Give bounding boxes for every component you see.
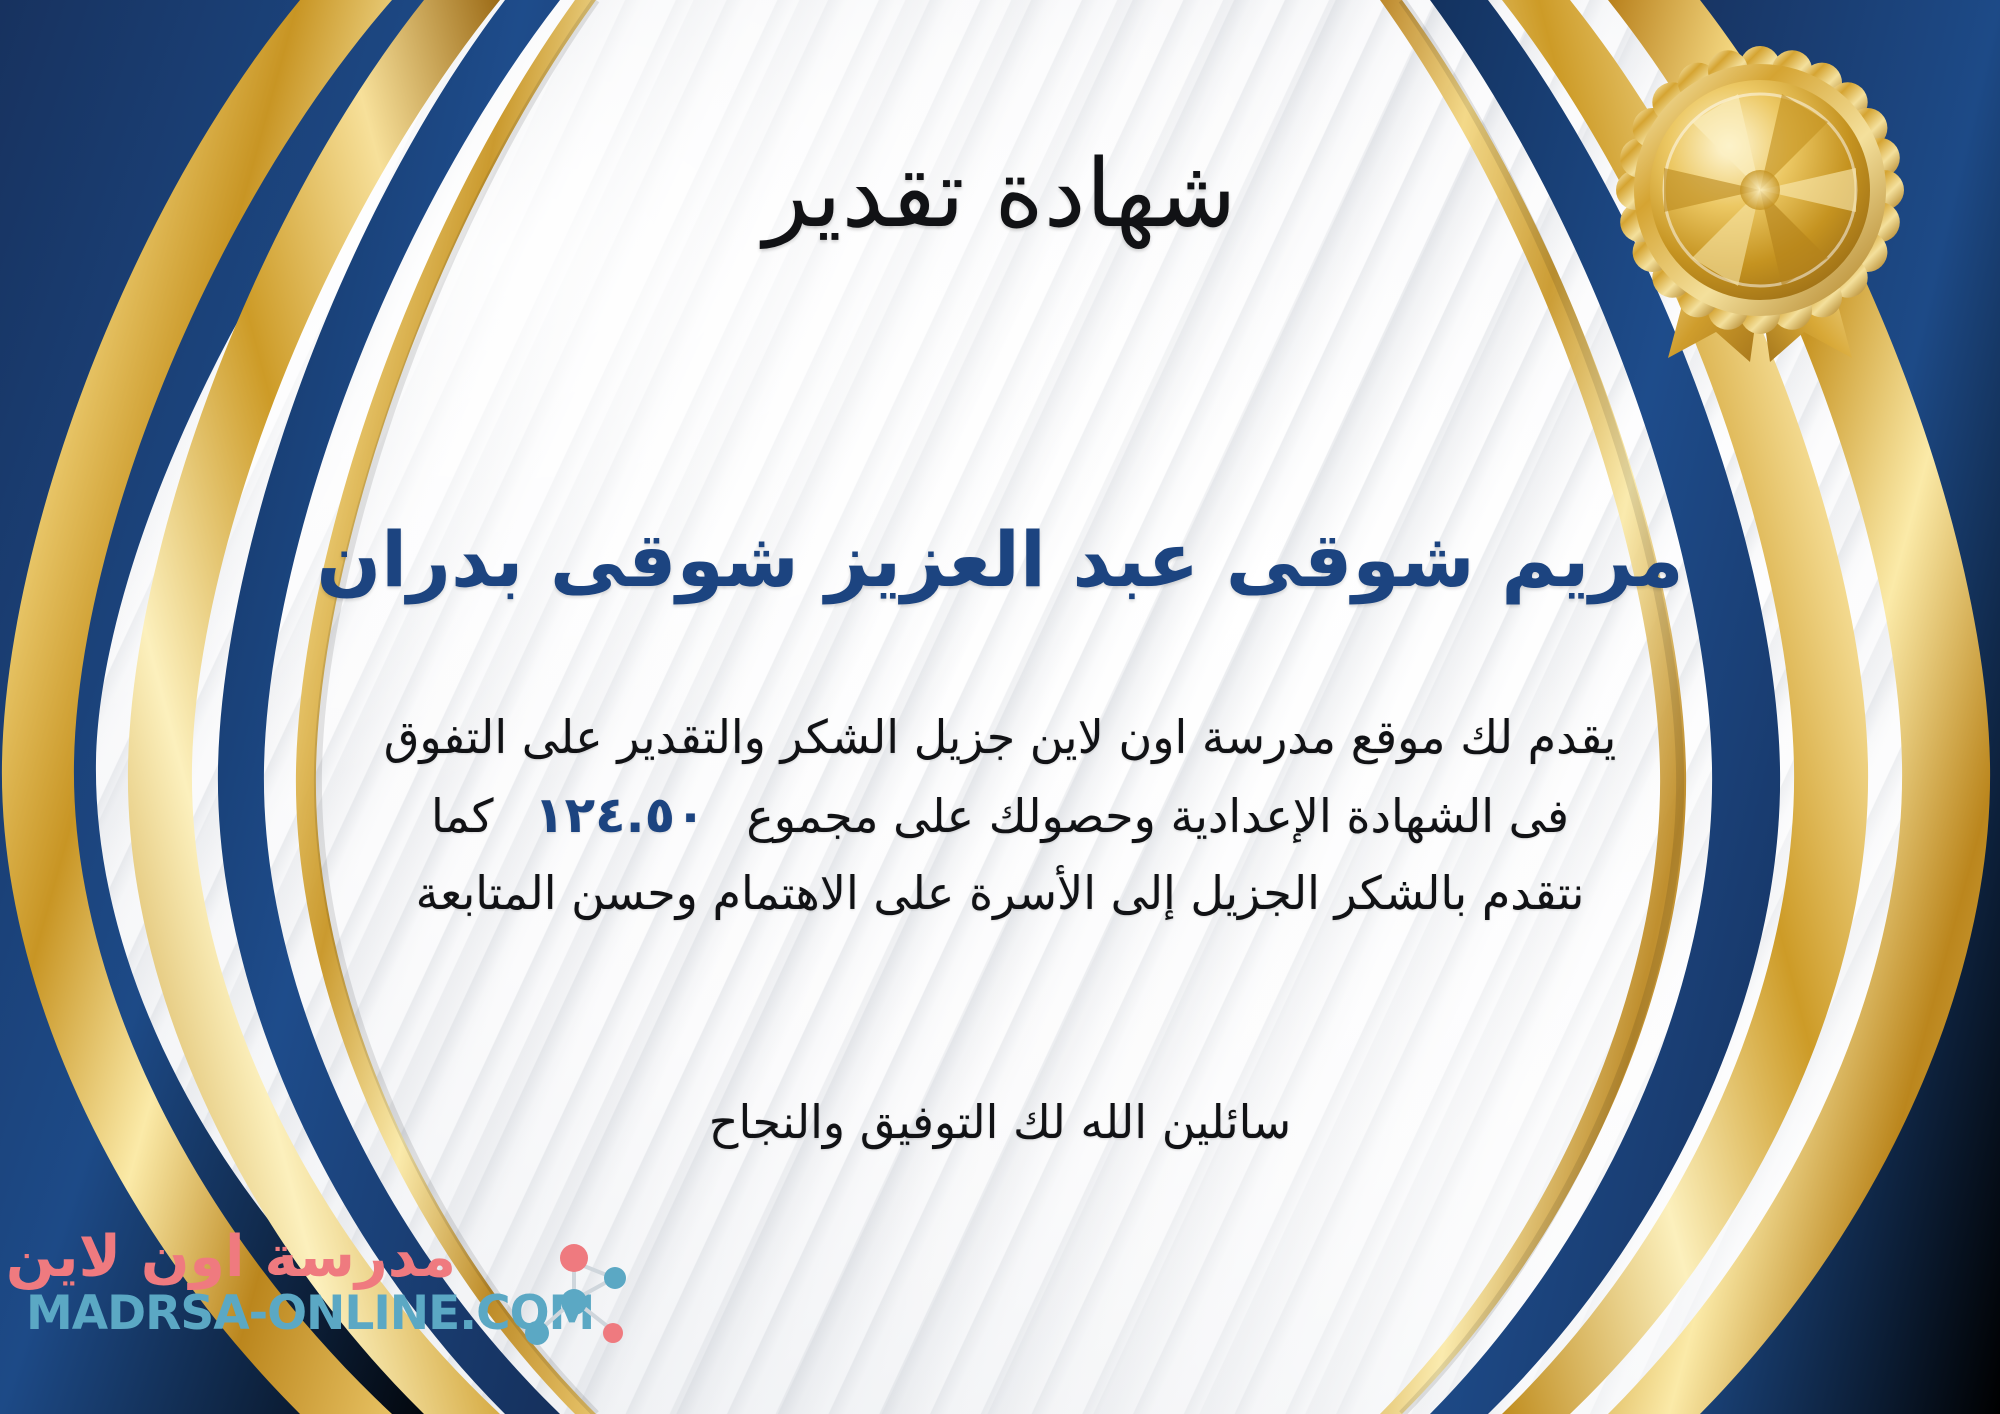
body-line-1: يقدم لك موقع مدرسة اون لاين جزيل الشكر و… [60,700,1940,775]
body-line-3: نتقدم بالشكر الجزيل إلى الأسرة على الاهت… [60,856,1940,931]
recipient-name: مريم شوقى عبد العزيز شوقى بدران [0,515,2000,604]
body-line-2-prefix: فى الشهادة الإعدادية وحصولك على مجموع [746,789,1569,843]
certificate-title: شهادة تقدير [0,140,2000,249]
closing-wish: سائلين الله لك التوفيق والنجاح [0,1095,2000,1149]
body-line-2: فى الشهادة الإعدادية وحصولك على مجموع ١٢… [60,775,1940,856]
certificate-canvas: شهادة تقدير مريم شوقى عبد العزيز شوقى بد… [0,0,2000,1414]
body-line-2-suffix: كما [431,789,494,843]
brand-arabic-name: مدرسة اون لاين [26,1228,456,1288]
certificate-content: شهادة تقدير مريم شوقى عبد العزيز شوقى بد… [0,0,2000,1414]
certificate-body: يقدم لك موقع مدرسة اون لاين جزيل الشكر و… [60,700,1940,930]
total-score-value: ١٢٤.٥٠ [508,786,732,844]
brand-website: MADRSA-ONLINE.COM [26,1288,456,1340]
network-nodes-icon [516,1234,636,1364]
brand-text-group: مدرسة اون لاين MADRSA-ONLINE.COM [26,1228,456,1340]
brand-logo[interactable]: مدرسة اون لاين MADRSA-ONLINE.COM [26,1228,546,1378]
